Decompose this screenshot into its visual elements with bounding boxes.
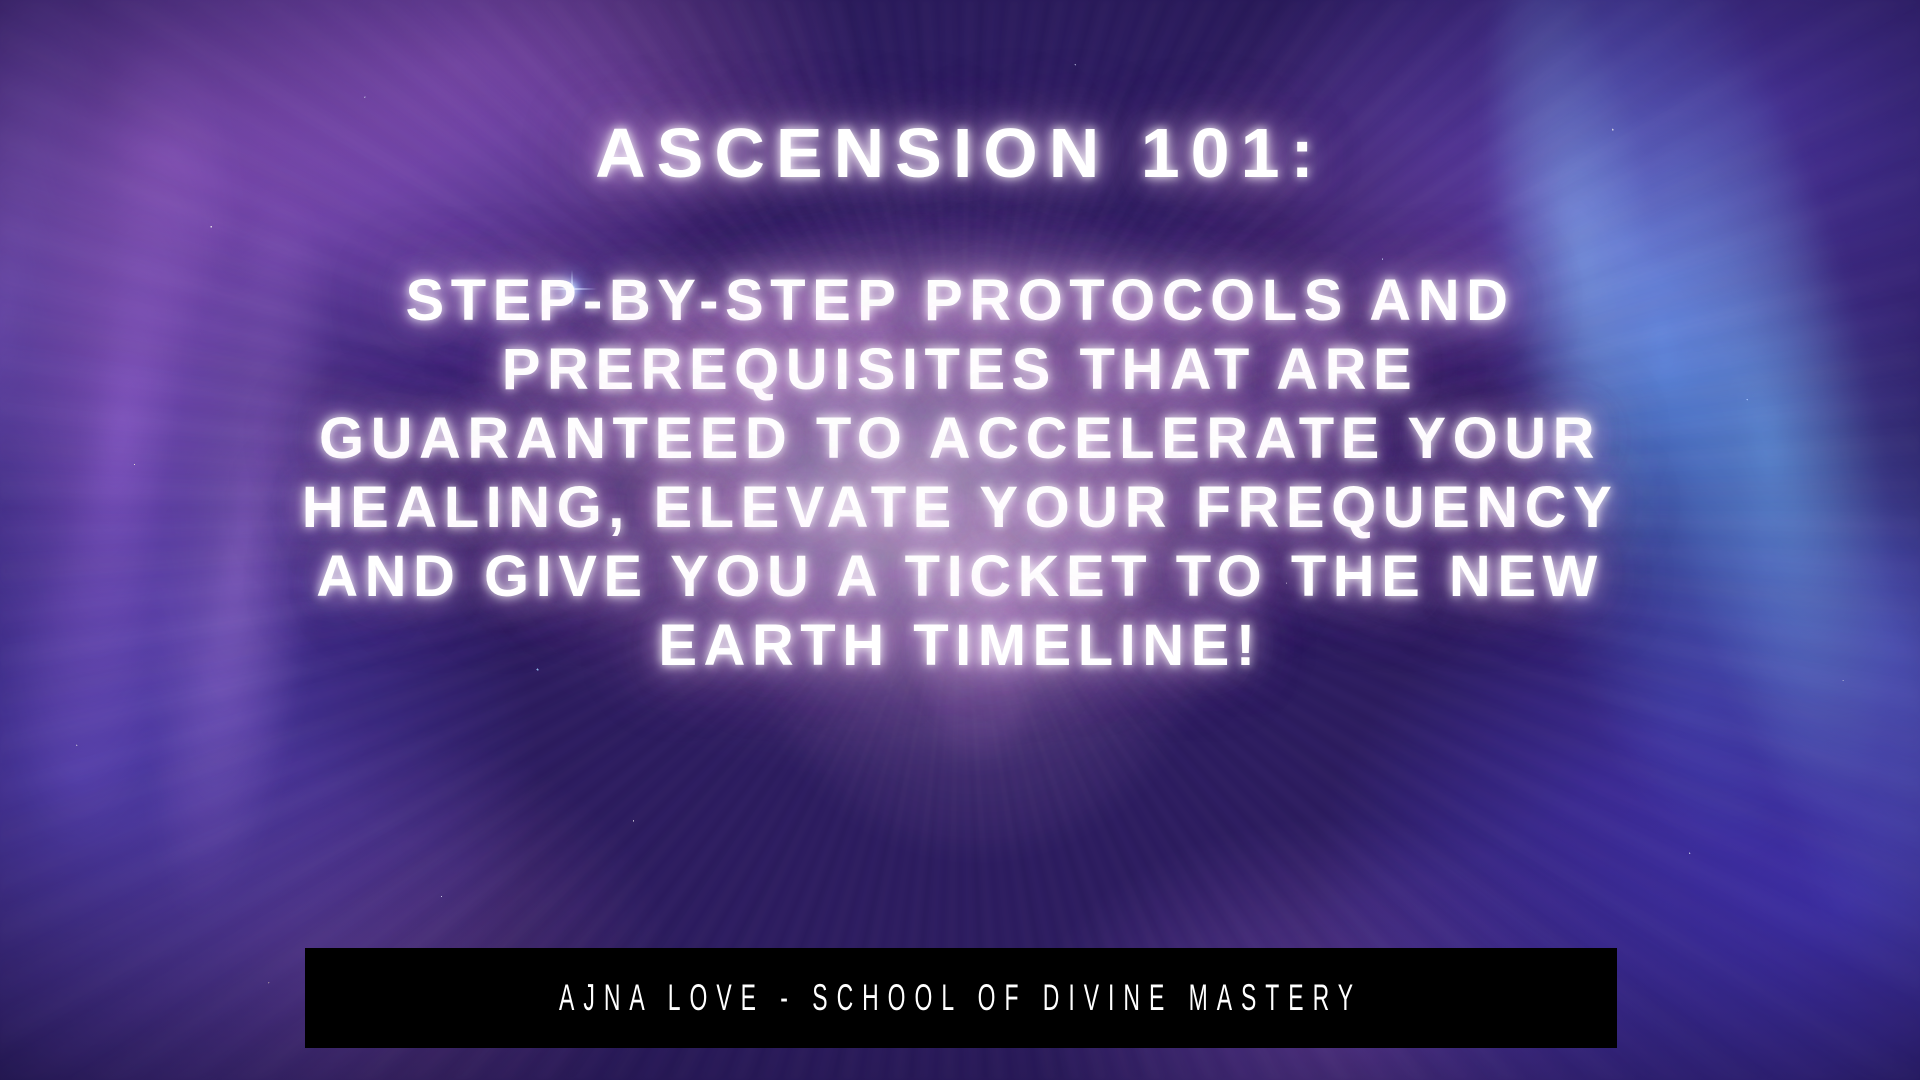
- subheadline-line-4: HEALING, ELEVATE YOUR FREQUENCY: [110, 473, 1810, 542]
- subheadline-line-5: AND GIVE YOU A TICKET TO THE NEW: [110, 542, 1810, 611]
- title-block: ASCENSION 101:: [0, 118, 1920, 188]
- poster-content: ASCENSION 101: STEP-BY-STEP PROTOCOLS AN…: [0, 0, 1920, 1080]
- subheadline-line-3: GUARANTEED TO ACCELERATE YOUR: [110, 404, 1810, 473]
- brand-name: AJNA LOVE - SCHOOL OF DIVINE MASTERY: [560, 977, 1363, 1019]
- subheadline-line-1: STEP-BY-STEP PROTOCOLS AND: [110, 266, 1810, 335]
- poster-canvas: ASCENSION 101: STEP-BY-STEP PROTOCOLS AN…: [0, 0, 1920, 1080]
- subheadline-block: STEP-BY-STEP PROTOCOLS AND PREREQUISITES…: [110, 266, 1810, 680]
- page-title: ASCENSION 101:: [0, 118, 1920, 188]
- brand-footer-bar: AJNA LOVE - SCHOOL OF DIVINE MASTERY: [305, 948, 1617, 1048]
- subheadline-line-6: EARTH TIMELINE!: [110, 611, 1810, 680]
- subheadline-line-2: PREREQUISITES THAT ARE: [110, 335, 1810, 404]
